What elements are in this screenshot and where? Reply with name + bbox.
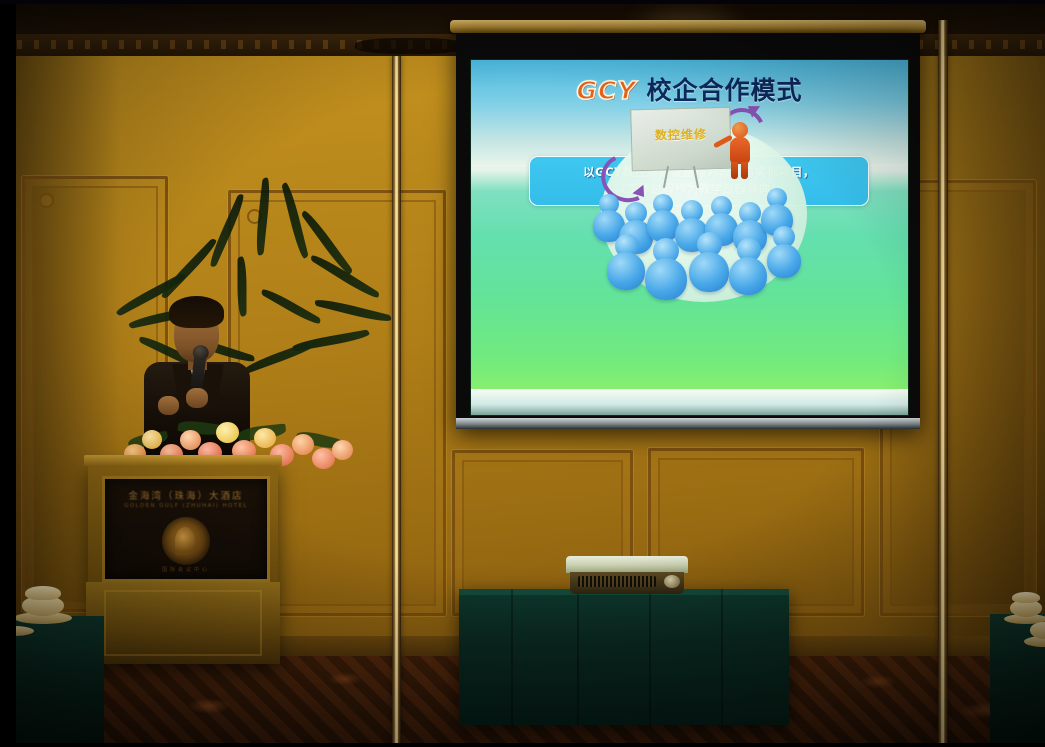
slide-title-brand: GCY — [577, 76, 637, 105]
flower-blossom — [292, 434, 314, 455]
photo-edge-left — [0, 0, 16, 747]
pole-highlight — [941, 20, 944, 747]
projector — [566, 556, 688, 594]
audience-body — [645, 258, 687, 300]
projection-screen[interactable]: GCY校企合作模式 以GCY数控维修设备作为教学与实训项目， 以工作过程作为教学… — [456, 33, 920, 429]
ceiling-vent — [355, 38, 465, 54]
audience-body — [767, 244, 801, 278]
podium-top-edge — [84, 455, 282, 466]
slide-title-cn: 校企合作模式 — [646, 76, 802, 105]
whiteboard-easel-legs — [659, 166, 703, 188]
audience-body — [689, 252, 729, 292]
photo-scene: GCY校企合作模式 以GCY数控维修设备作为教学与实训项目， 以工作过程作为教学… — [0, 0, 1045, 747]
flower-blossom — [142, 430, 162, 449]
venue-name-cn: 金海湾（珠海）大酒店 — [105, 488, 267, 502]
podium-footer-text: 国际会议中心 — [105, 566, 267, 573]
teacup-lid — [25, 586, 61, 600]
palm-frond — [254, 177, 271, 256]
presenter-leg-right — [741, 162, 748, 179]
slide-title: GCY校企合作模式 — [471, 78, 908, 103]
audience-body — [729, 257, 767, 295]
palm-frond — [159, 237, 220, 299]
podium-plaque: 金海湾（珠海）大酒店 GOLDEN GULF (ZHUHAI) HOTEL 国际… — [102, 476, 270, 582]
presentation-slide: GCY校企合作模式 以GCY数控维修设备作为教学与实训项目， 以工作过程作为教学… — [471, 60, 908, 415]
whiteboard: 数控维修 — [630, 107, 732, 172]
venue-name-en: GOLDEN GULF (ZHUHAI) HOTEL — [105, 503, 267, 509]
screen-surface: GCY校企合作模式 以GCY数控维修设备作为教学与实训项目， 以工作过程作为教学… — [470, 59, 909, 416]
projector-lens-icon — [664, 575, 680, 588]
audience-body — [607, 252, 645, 290]
flower-blossom — [254, 428, 276, 448]
photo-edge-top — [0, 0, 1045, 4]
slide-footer-band — [471, 389, 908, 415]
screen-roller-bar — [450, 20, 926, 33]
podium: 金海湾（珠海）大酒店 GOLDEN GULF (ZHUHAI) HOTEL 国际… — [88, 462, 278, 662]
presenter-body — [730, 137, 750, 164]
flower-blossom — [216, 422, 239, 443]
support-pole-left — [392, 56, 401, 747]
table-drape-fold — [649, 589, 651, 725]
podium-base — [86, 582, 280, 664]
palm-frond — [314, 297, 392, 325]
table-drape-fold — [511, 589, 513, 725]
presenter-head — [732, 122, 748, 138]
slide-illustration: 数控维修 — [587, 102, 815, 302]
flower-blossom — [332, 440, 353, 460]
screen-bottom-bar — [456, 418, 920, 429]
support-pole-right — [938, 20, 948, 747]
projector-top — [566, 556, 688, 573]
teacup-lid — [1012, 592, 1040, 603]
table-drape-fold — [577, 589, 579, 725]
flower-blossom — [180, 430, 201, 450]
palm-frond — [260, 286, 322, 327]
presenter-leg-left — [731, 162, 738, 179]
speaker-hair — [169, 296, 224, 328]
projector-vent — [578, 576, 656, 587]
table-drape-fold — [721, 589, 723, 725]
panel-knob — [39, 193, 54, 208]
presenter-figure — [727, 122, 753, 178]
pole-highlight — [395, 56, 398, 747]
hotel-logo-icon — [162, 517, 210, 565]
photo-edge-bottom — [0, 743, 1045, 747]
center-table — [459, 589, 789, 725]
